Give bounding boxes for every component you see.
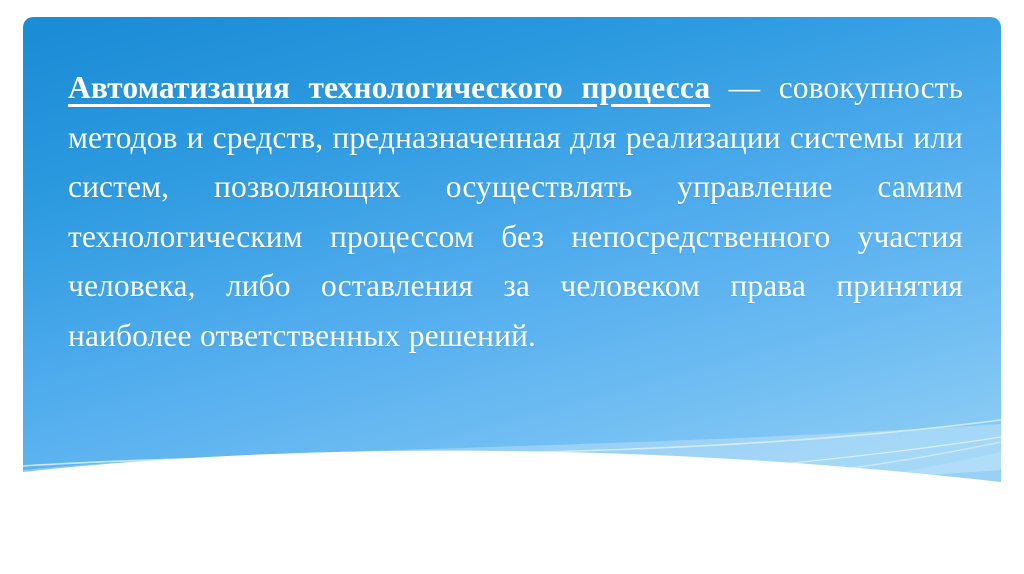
em-dash: — bbox=[710, 70, 760, 105]
definition-paragraph: Автоматизация технологического процесса … bbox=[68, 63, 963, 361]
definition-text-block: Автоматизация технологического процесса … bbox=[68, 63, 963, 361]
definition-body: совокупность методов и средств, предназн… bbox=[68, 70, 963, 353]
definition-term: Автоматизация технологического процесса bbox=[68, 70, 710, 105]
slide-canvas: Автоматизация технологического процесса … bbox=[0, 0, 1024, 574]
